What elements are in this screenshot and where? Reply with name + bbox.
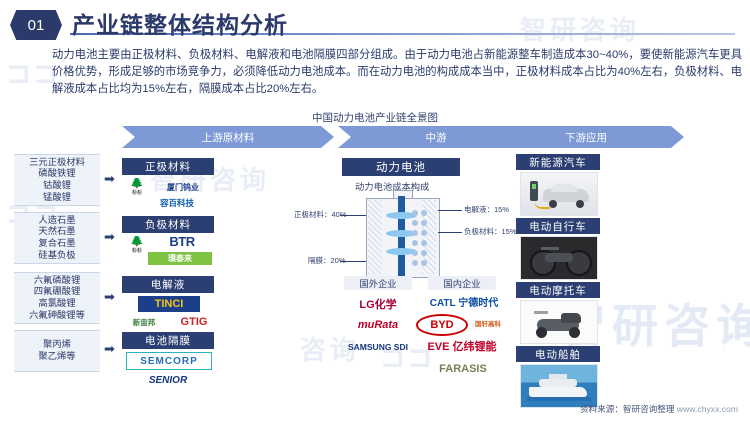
source-text: 资料来源：智研咨询整理 <box>580 404 675 414</box>
company-logo-putailai: 璞泰来 <box>148 252 212 265</box>
page-header: 01 产业链整体结构分析 <box>0 6 750 42</box>
battery-anode-dot <box>421 260 427 266</box>
group-header-foreign: 国外企业 <box>344 276 412 290</box>
electric-car-photo <box>520 172 598 216</box>
battery-anode-dot <box>421 250 427 256</box>
battery-anode-dot <box>412 250 418 256</box>
midstream-title: 动力电池 <box>342 158 460 176</box>
raw-material-item: 硅基负极 <box>38 250 75 262</box>
page-title: 产业链整体结构分析 <box>72 6 288 40</box>
company-logo-semcorp: SEMCORP <box>126 352 212 370</box>
category-label-cathode: 正极材料 <box>122 158 214 175</box>
callout-leader-line <box>438 232 462 233</box>
tree-icon: 🌲 <box>130 236 144 247</box>
raw-material-item: 复合石墨 <box>38 238 75 250</box>
company-logo-farasis: FARASIS <box>422 360 504 378</box>
raw-material-item: 天然石墨 <box>38 226 75 238</box>
raw-material-box: 聚丙烯 聚乙烯等 <box>14 330 100 372</box>
raw-material-item: 六氟砷酸锂等 <box>29 310 85 322</box>
raw-material-box: 六氟磷酸锂 四氟硼酸锂 高氯酸锂 六氟砷酸锂等 <box>14 272 100 324</box>
source-footer: 资料来源：智研咨询整理 www.chyxx.com <box>580 403 738 415</box>
section-number-badge: 01 <box>10 10 62 40</box>
battery-anode-dot <box>412 260 418 266</box>
company-logo-samsung-sdi: SAMSUNG SDI <box>338 340 418 354</box>
downstream-label-ev: 新能源汽车 <box>516 154 600 170</box>
battery-anode-dot <box>421 210 427 216</box>
company-logo-shanshan: 🌲 杉杉 <box>124 178 150 196</box>
battery-anode-dot <box>412 220 418 226</box>
flow-arrow-icon: ➡ <box>104 230 115 243</box>
chevron-upstream: 上游原材料 <box>122 126 334 148</box>
company-logo-murata: muRata <box>342 318 414 332</box>
callout-anode: 负极材料：15% <box>464 226 517 237</box>
battery-anode-dot <box>412 230 418 236</box>
category-label-electrolyte: 电解液 <box>122 276 214 293</box>
company-logo-capchem: 新宙邦 <box>120 316 168 329</box>
callout-electrolyte: 电解液：15% <box>464 204 509 215</box>
raw-material-item: 人造石墨 <box>38 215 75 227</box>
company-logo-tinci: TINCI <box>138 296 200 312</box>
electric-bicycle-photo <box>520 236 598 280</box>
body-paragraph: 动力电池主要由正极材料、负极材料、电解液和电池隔膜四部分组成。由于动力电池占新能… <box>52 47 742 99</box>
battery-anode-dot <box>421 230 427 236</box>
battery-anode-dot <box>412 240 418 246</box>
raw-material-item: 高氯酸锂 <box>38 298 75 310</box>
electric-boat-photo <box>520 364 598 408</box>
tree-icon: 🌲 <box>130 178 144 189</box>
raw-material-item: 聚丙烯 <box>43 339 71 351</box>
chevron-downstream-label: 下游应用 <box>565 130 607 145</box>
downstream-label-ebike: 电动自行车 <box>516 218 600 234</box>
company-logo-xiamen-tungsten: 厦门钨业 <box>154 180 212 194</box>
callout-leader-line <box>438 210 462 211</box>
chevron-midstream-label: 中游 <box>426 130 447 145</box>
chevron-upstream-label: 上游原材料 <box>202 130 255 145</box>
category-label-separator: 电池隔膜 <box>122 332 214 349</box>
company-logo-ronbay: 容百科技 <box>142 196 212 210</box>
flow-arrow-icon: ➡ <box>104 342 115 355</box>
company-logo-btr: BTR <box>152 234 212 249</box>
diagram-title: 中国动力电池产业链全景图 <box>0 110 750 125</box>
chevron-downstream: 下游应用 <box>488 126 684 148</box>
company-logo-shanshan: 🌲 杉杉 <box>124 236 150 254</box>
company-logo-gotion: 国轩高科 <box>470 314 506 332</box>
category-label-anode: 负极材料 <box>122 216 214 233</box>
callout-separator: 隔膜：20% <box>308 255 346 266</box>
company-logo-lg-chem: LG化学 <box>342 296 414 312</box>
raw-material-box: 三元正极材料 磷酸铁锂 钴酸锂 锰酸锂 <box>14 154 100 206</box>
battery-separator-hatch <box>368 200 382 274</box>
battery-anode-dot <box>421 240 427 246</box>
raw-material-item: 聚乙烯等 <box>38 351 75 363</box>
flow-arrow-icon: ➡ <box>104 172 115 185</box>
battery-cathode-rod <box>398 196 405 278</box>
group-header-domestic: 国内企业 <box>428 276 496 290</box>
downstream-label-emotorcycle: 电动摩托车 <box>516 282 600 298</box>
raw-material-item: 磷酸铁锂 <box>38 168 75 180</box>
company-logo-catl: CATL 宁德时代 <box>422 294 506 309</box>
raw-material-item: 锰酸锂 <box>43 192 71 204</box>
battery-anode-dot <box>421 220 427 226</box>
electric-motorcycle-photo <box>520 300 598 344</box>
company-logo-byd: BYD <box>416 314 468 336</box>
raw-material-item: 四氟硼酸锂 <box>34 286 81 298</box>
raw-material-item: 六氟磷酸锂 <box>34 275 81 287</box>
raw-material-item: 钴酸锂 <box>43 180 71 192</box>
company-logo-gtig: GTIG <box>172 314 216 329</box>
company-logo-senior: SENIOR <box>126 372 210 388</box>
source-url: www.chyxx.com <box>677 404 738 414</box>
callout-cathode: 正极材料：40% <box>294 209 347 220</box>
downstream-label-eboat: 电动船舶 <box>516 346 600 362</box>
company-logo-eve: EVE 亿纬锂能 <box>418 338 506 354</box>
battery-anode-dot <box>412 210 418 216</box>
raw-material-box: 人造石墨 天然石墨 复合石墨 硅基负极 <box>14 212 100 264</box>
raw-material-item: 三元正极材料 <box>29 157 85 169</box>
flow-arrow-icon: ➡ <box>104 290 115 303</box>
value-chain-diagram: 上游原材料 中游 下游应用 三元正极材料 磷酸铁锂 钴酸锂 锰酸锂 ➡ 正极材料… <box>8 126 742 398</box>
